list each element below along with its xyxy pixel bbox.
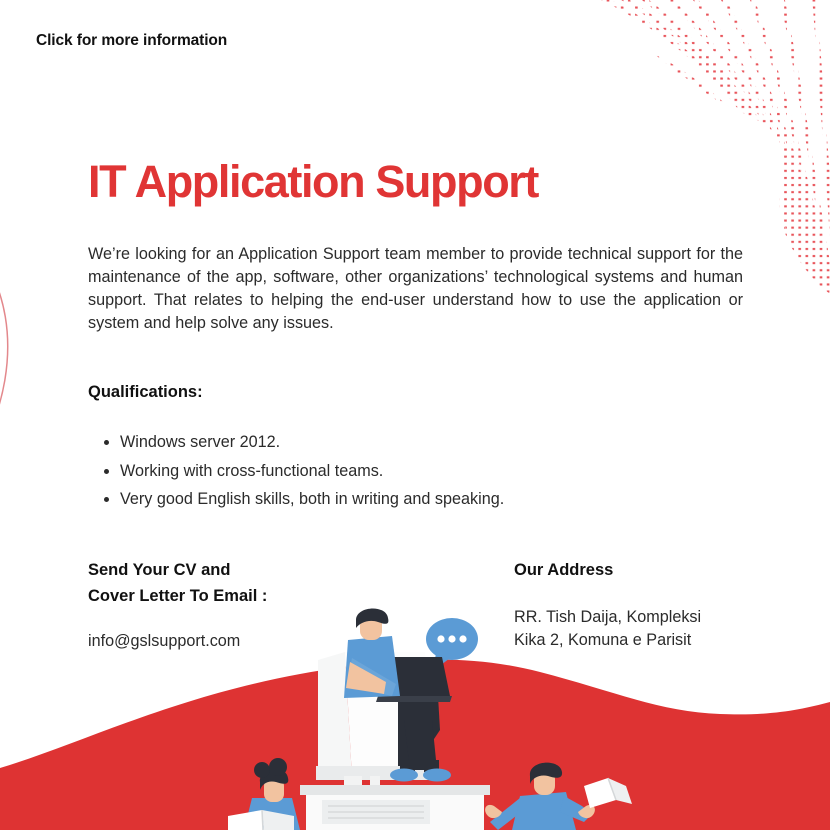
send-cv-heading-line1: Send Your CV and <box>88 561 230 579</box>
list-item: Working with cross-functional teams. <box>120 457 740 486</box>
page-title: IT Application Support <box>88 158 538 205</box>
qualifications-list: Windows server 2012. Working with cross-… <box>88 428 740 514</box>
send-cv-heading: Send Your CV and Cover Letter To Email : <box>88 557 418 609</box>
address-block: Our Address RR. Tish Daija, Kompleksi Ki… <box>514 557 794 652</box>
job-description: We’re looking for an Application Support… <box>88 243 743 335</box>
address-line2: Kika 2, Komuna e Parisit <box>514 631 691 649</box>
address-line1: RR. Tish Daija, Kompleksi <box>514 608 701 626</box>
send-cv-heading-line2: Cover Letter To Email : <box>88 587 267 605</box>
send-cv-block: Send Your CV and Cover Letter To Email :… <box>88 557 418 653</box>
list-item: Windows server 2012. <box>120 428 740 457</box>
job-posting-poster: Click for more information IT Applicatio… <box>0 0 830 830</box>
list-item: Very good English skills, both in writin… <box>120 485 740 514</box>
address-heading: Our Address <box>514 557 794 583</box>
address-text: RR. Tish Daija, Kompleksi Kika 2, Komuna… <box>514 606 794 652</box>
email-address[interactable]: info@gslsupport.com <box>88 630 418 653</box>
qualifications-heading: Qualifications: <box>88 383 203 402</box>
click-for-more-information-link[interactable]: Click for more information <box>36 32 227 50</box>
